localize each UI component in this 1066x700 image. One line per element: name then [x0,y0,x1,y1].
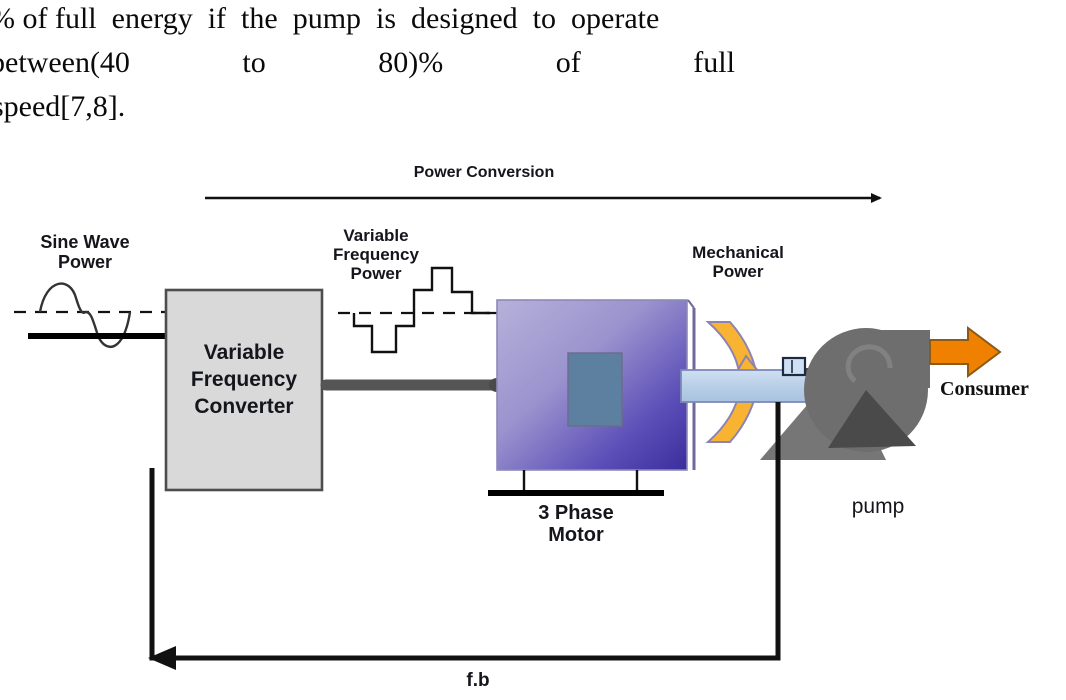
motor-nameplate [568,353,622,426]
paragraph-line-1: % of full energy if the pump is designed… [0,4,659,34]
label-line: Frequency [318,245,434,264]
label-line: 3 Phase [496,502,656,524]
label-three-phase-motor: 3 PhaseMotor [496,502,656,547]
label-line: Power [20,252,150,272]
label-line: Mechanical [668,243,808,262]
label-line: Power [318,264,434,283]
label-power-conversion: Power Conversion [384,164,584,182]
paragraph-line-2: between(40 to 80)% of full [0,48,735,78]
vfd-pump-block-diagram: Power Conversion Sine WavePower Variable… [0,140,1066,700]
converter-motor-cable-group [326,378,505,392]
converter-label-line-1: Variable [166,340,322,367]
paragraph-line-3: speed[7,8]. [0,92,125,122]
sine-wave-input-group [14,284,168,347]
label-line: Variable [318,226,434,245]
consumer-flow-arrow-icon [930,328,1000,376]
three-phase-motor-block [488,300,694,493]
motor-edge-highlight [688,300,694,308]
label-line: Motor [496,524,656,546]
shaft-coupling [783,358,805,375]
label-line: Sine Wave [20,232,150,252]
label-pump: pump [818,495,938,519]
label-mechanical-power: MechanicalPower [668,243,808,281]
consumer-arrow-group [930,328,1000,376]
pump-discharge-nozzle [866,330,930,388]
label-consumer: Consumer [940,378,1066,400]
converter-label-line-2: Frequency [166,367,322,394]
label-variable-frequency-power: VariableFrequencyPower [318,226,434,283]
label-sine-wave-power: Sine WavePower [20,232,150,272]
label-feedback: f.b [418,670,538,691]
label-line: Power [668,262,808,281]
paragraph-text-block: % of full energy if the pump is designed… [0,0,1066,140]
diagram-svg [0,140,1066,700]
label-variable-frequency-converter: Variable Frequency Converter [166,340,322,421]
converter-label-line-3: Converter [166,394,322,421]
